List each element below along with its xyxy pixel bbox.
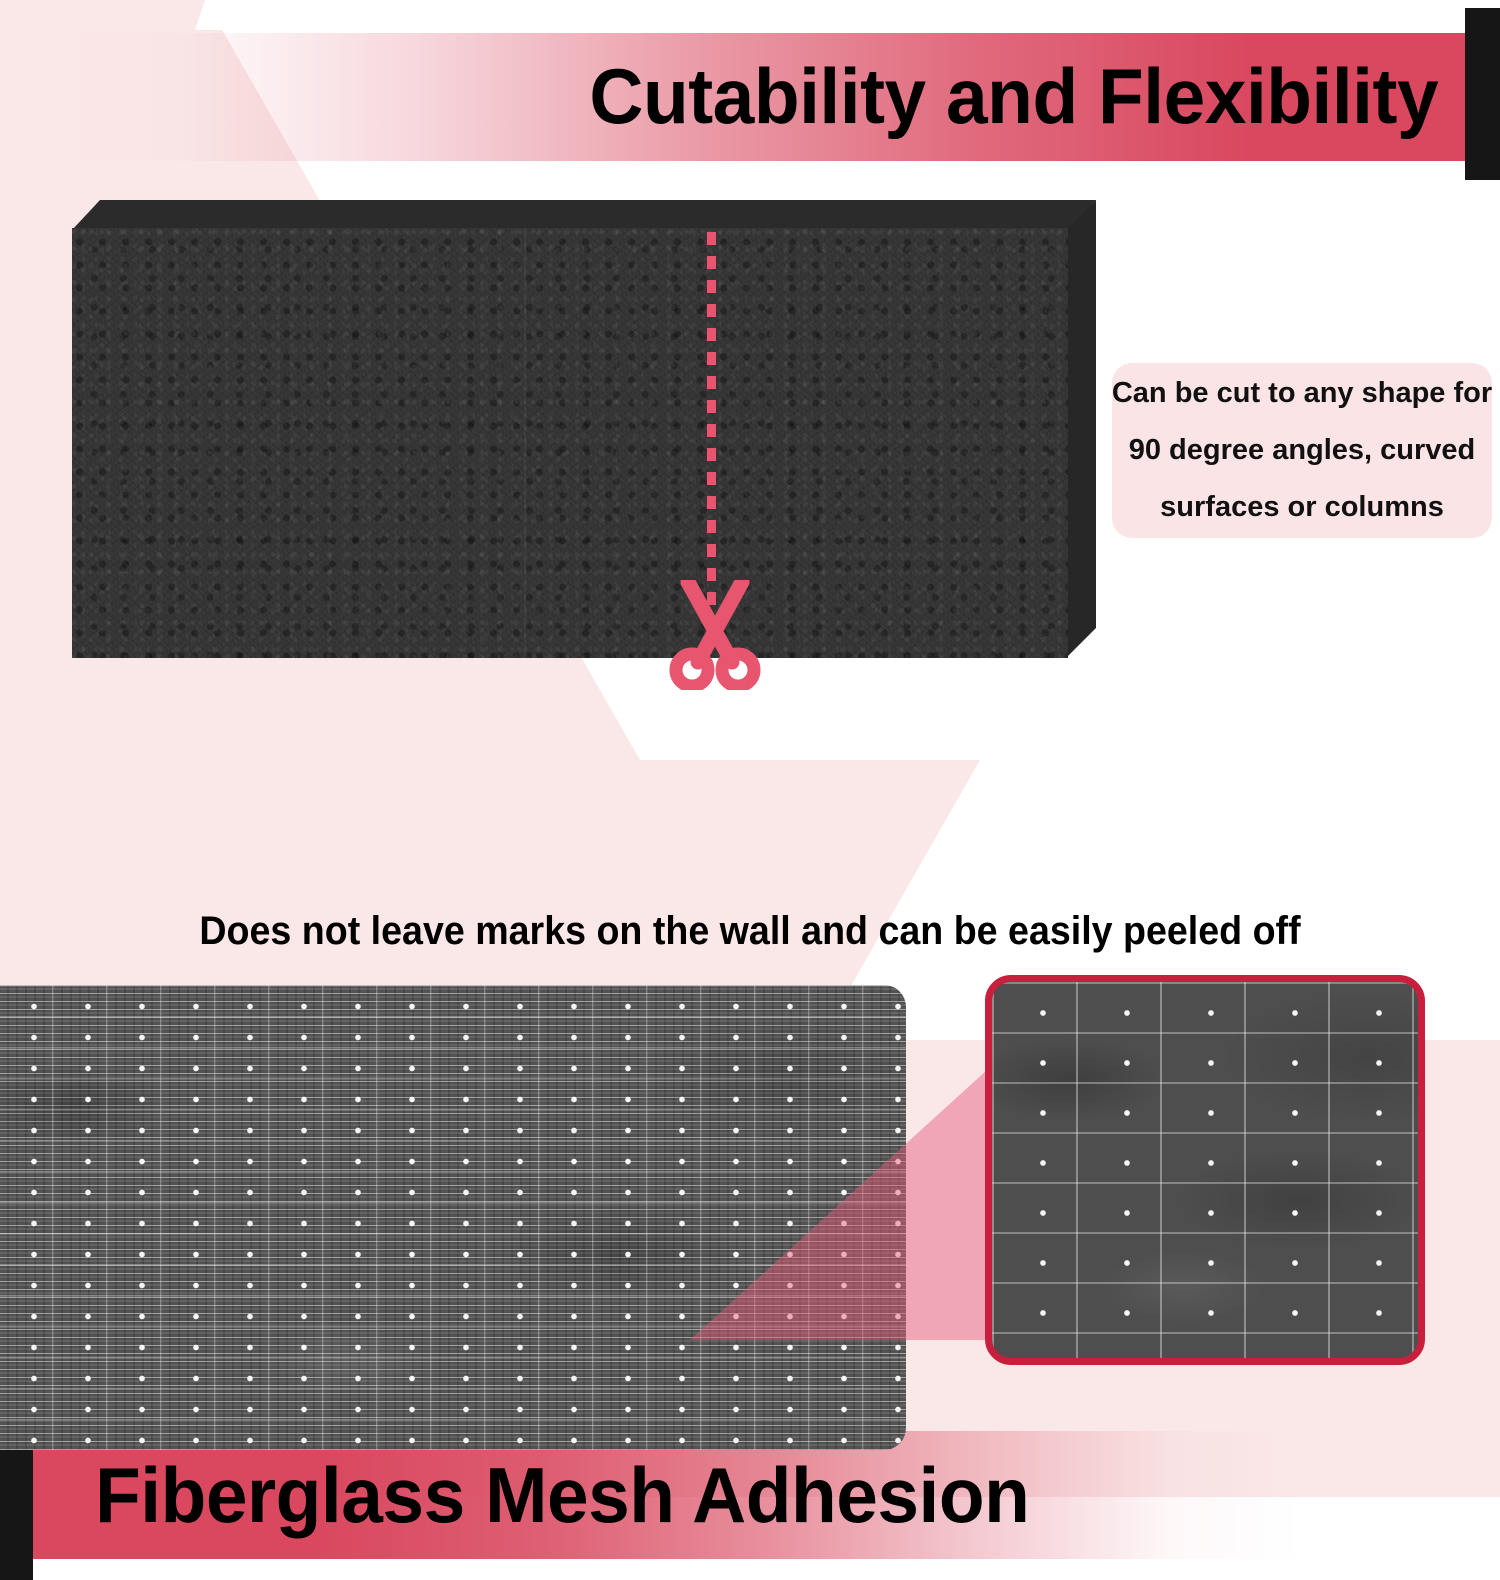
section-title-cutability: Cutability and Flexibility [589,36,1438,156]
foam-panel-seam [524,228,526,658]
foam-panel-top-edge [72,200,1096,230]
foam-panel-face [72,228,1068,658]
cutability-callout-box: Can be cut to any shape for 90 degree an… [1112,363,1492,538]
section-header-cutability: Cutability and Flexibility [0,0,1500,190]
mesh-intersection-nodes [0,985,906,1450]
callout-line-2: 90 degree angles, curved [1129,422,1476,479]
banner-endcap-block [1465,8,1500,180]
section-title-fiberglass: Fiberglass Mesh Adhesion [95,1435,1029,1555]
callout-line-1: Can be cut to any shape for [1112,365,1492,422]
fiberglass-mesh-photo [0,985,906,1450]
scissors-icon [669,580,761,690]
fiberglass-mesh-zoom-inset [985,975,1425,1365]
foam-panel-right-edge [1066,200,1096,658]
mesh-intersection-nodes [992,982,1418,1358]
cut-line-dashed-icon [707,232,716,622]
callout-line-3: surfaces or columns [1160,479,1444,536]
foam-panel-photo [72,200,1096,658]
fiberglass-subtitle: Does not leave marks on the wall and can… [45,900,1455,962]
section-header-fiberglass: Fiberglass Mesh Adhesion [0,700,1500,895]
